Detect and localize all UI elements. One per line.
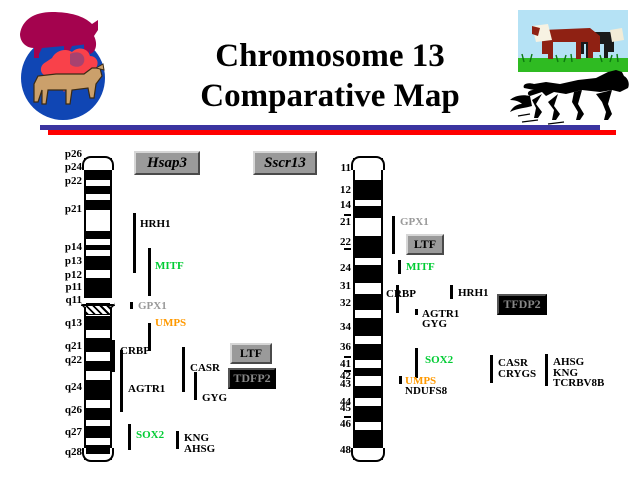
band [86,231,110,239]
band [355,180,381,200]
gene-extent-bar [133,213,136,273]
band [355,236,381,258]
chromosome-label-hsap3: Hsap3 [134,151,200,175]
cattle-photo [518,10,628,72]
title-line-1: Chromosome 13 [150,36,510,76]
gene-extent-bar [490,355,493,383]
gene-label-crbp[interactable]: CRBP [386,288,416,300]
band [355,430,381,448]
band [86,245,110,250]
band-label: p13 [52,255,82,267]
gene-extent-bar [392,216,395,254]
farm-animals-logo-icon [8,6,118,124]
band [355,344,381,360]
band-tick [344,248,351,250]
band-label: 36 [321,341,351,353]
gene-label-crbp[interactable]: CRBP [120,345,150,357]
band-tick [344,416,351,418]
band-label: 43 [321,378,351,390]
gene-label-mitf[interactable]: MITF [155,260,184,272]
band [86,380,110,400]
band-label: q28 [52,446,82,458]
band-label: 41 [321,358,351,370]
gene-label-umps[interactable]: UMPS [155,317,186,329]
gene-extent-bar [182,347,185,392]
gene-label-agtr1[interactable]: AGTR1 [128,383,165,395]
band [355,406,381,422]
band [86,256,110,270]
band-label: 32 [321,297,351,309]
band [86,361,110,371]
centromere-pinch-bottom [81,304,115,306]
band-label: 12 [321,184,351,196]
ideogram-cap-bottom [351,448,385,462]
band-label: p26 [52,148,82,160]
gene-label-mitf[interactable]: MITF [406,261,435,273]
band-label: 21 [321,216,351,228]
gene-extent-bar [415,309,418,315]
band-label: p11 [52,281,82,293]
band-label: 22 [321,236,351,248]
band [86,186,110,194]
band-label: p24 [52,161,82,173]
gene-extent-bar [450,285,453,299]
gene-extent-bar [399,376,402,384]
gene-label-hrh1[interactable]: HRH1 [140,218,171,230]
gene-extent-bar [194,372,197,400]
gene-extent-bar [415,348,418,378]
band [355,294,381,310]
band [86,316,110,330]
gene-label-gyg[interactable]: GYG [202,392,227,404]
band-label: 24 [321,262,351,274]
band-tick [344,214,351,216]
gene-label-sox2[interactable]: SOX2 [425,354,453,366]
band [86,445,110,454]
gene-extent-bar [148,248,151,296]
band-label: p22 [52,175,82,187]
band-label: q11 [52,294,82,306]
band-label: p14 [52,241,82,253]
band-label: 34 [321,321,351,333]
band-label: 46 [321,418,351,430]
gene-box-ltf-human[interactable]: LTF [230,343,272,364]
gene-label-crygs[interactable]: CRYGS [498,368,536,380]
band-label: 45 [321,402,351,414]
band-label: q13 [52,317,82,329]
gene-label-ahsg[interactable]: AHSG [184,443,215,455]
band-label: 31 [321,280,351,292]
band [86,278,110,300]
band-label: 11 [321,162,351,174]
gene-label-ndufs8[interactable]: NDUFS8 [405,385,447,397]
band-label: q27 [52,426,82,438]
band [86,170,110,180]
band-label: 48 [321,444,351,456]
band-label: q26 [52,404,82,416]
divider-red [48,130,616,135]
band-tick [344,356,351,358]
gene-extent-bar [176,431,179,449]
ideogram-cap-top [351,156,385,170]
band-label: q24 [52,381,82,393]
band-label: q21 [52,340,82,352]
ideogram-cap-top [82,156,114,170]
band [355,386,381,398]
band [355,206,381,218]
band [86,338,110,352]
gene-extent-bar [398,260,401,274]
band [86,408,110,420]
gene-label-hrh1[interactable]: HRH1 [458,287,489,299]
gene-label-tcrbv8b[interactable]: TCRBV8B [553,377,604,389]
gene-extent-bar [112,340,115,372]
comparative-map-page: Chromosome 13 Comparative Map [0,0,640,480]
band [86,426,110,438]
gene-extent-bar [545,354,548,386]
band-label: p21 [52,203,82,215]
gene-label-gpx1[interactable]: GPX1 [138,300,167,312]
band-label: 14 [321,199,351,211]
gene-box-ltf-pig[interactable]: LTF [406,234,444,255]
band [355,368,381,376]
gene-label-sox2[interactable]: SOX2 [136,429,164,441]
chromosome-label-sscr13: Sscr13 [253,151,317,175]
band [86,200,110,210]
gene-label-gyg[interactable]: GYG [422,318,447,330]
band-label: p12 [52,269,82,281]
running-horse-icon [508,70,632,128]
gene-extent-bar [128,424,131,450]
gene-extent-bar [120,350,123,412]
band-tick [344,370,351,372]
page-title: Chromosome 13 Comparative Map [150,36,510,116]
title-line-2: Comparative Map [150,76,510,116]
band [355,318,381,336]
ideogram-sscr13[interactable] [353,158,383,460]
band-label: q22 [52,354,82,366]
gene-label-gpx1[interactable]: GPX1 [400,216,429,228]
gene-extent-bar [130,302,133,309]
gene-box-tfdp2-pig[interactable]: TFDP2 [497,294,547,315]
band [355,265,381,283]
gene-box-tdfp2-human[interactable]: TDFP2 [228,368,276,389]
ideogram-hsap3[interactable] [84,158,112,460]
